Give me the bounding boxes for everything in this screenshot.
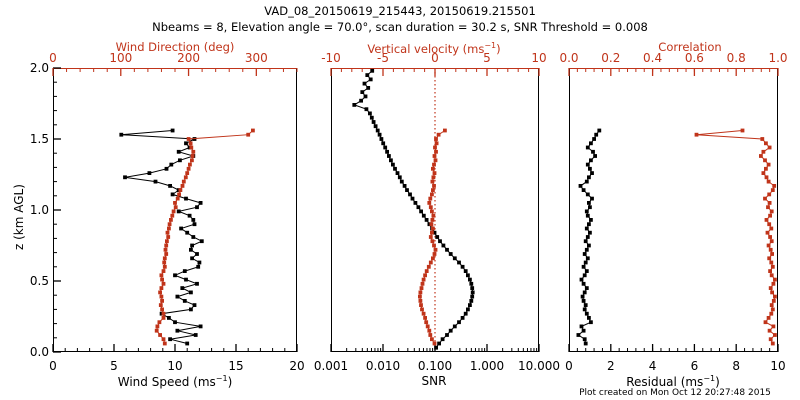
- panel-snr: [331, 68, 539, 352]
- panel-residual-bottom-axis-label: Residual (ms−1): [626, 375, 720, 388]
- panel-residual-top-axis-label: Correlation: [658, 42, 721, 54]
- x-axis-tick-label-top: 0.0: [559, 51, 578, 65]
- panel-snr-bottom-axis-label: SNR: [422, 375, 447, 387]
- x-axis-tick-label-top: 0.8: [727, 51, 746, 65]
- x-axis-tick-label-bottom: 6: [691, 359, 699, 373]
- plot-title-line2: Nbeams = 8, Elevation angle = 70.0°, sca…: [152, 22, 648, 34]
- x-axis-tick-label-bottom: 0.010: [366, 359, 400, 373]
- x-axis-tick-label-bottom: 1.000: [470, 359, 504, 373]
- x-axis-tick-label-top: 1.0: [768, 51, 787, 65]
- panel-wind: [53, 68, 297, 352]
- plot-credit: Plot created on Mon Oct 12 20:27:48 2015: [579, 389, 771, 398]
- y-axis-tick-label: 2.0: [30, 61, 49, 75]
- x-axis-tick-label-top: -10: [321, 51, 341, 65]
- panel-wind-top-axis-label: Wind Direction (deg): [116, 42, 235, 54]
- panel-wind-bottom-axis-label: Wind Speed (ms−1): [118, 375, 233, 388]
- x-axis-tick-label-bottom: 0: [565, 359, 573, 373]
- x-axis-tick-label-bottom: 15: [228, 359, 243, 373]
- panel-residual: [569, 68, 778, 352]
- y-axis-tick-label: 1.0: [30, 203, 49, 217]
- panel-snr-top-axis-label: Vertical velocity (ms−1): [367, 42, 500, 55]
- y-axis-tick-label: 1.5: [30, 132, 49, 146]
- x-axis-tick-label-bottom: 5: [110, 359, 118, 373]
- x-axis-tick-label-bottom: 10.000: [518, 359, 560, 373]
- x-axis-tick-label-bottom: 0.100: [418, 359, 452, 373]
- x-axis-tick-label-bottom: 10: [167, 359, 182, 373]
- x-axis-tick-label-bottom: 2: [607, 359, 615, 373]
- x-axis-tick-label-bottom: 8: [732, 359, 740, 373]
- x-axis-tick-label-bottom: 0: [49, 359, 57, 373]
- y-axis-label: z (km AGL): [12, 184, 26, 250]
- x-axis-tick-label-bottom: 4: [649, 359, 657, 373]
- vad-profile-plot: VAD_08_20150619_215443, 20150619.215501 …: [0, 0, 800, 400]
- x-axis-tick-label-bottom: 20: [289, 359, 304, 373]
- x-axis-tick-label-top: 10: [531, 51, 546, 65]
- y-axis-tick-label: 0.0: [30, 345, 49, 359]
- x-axis-tick-label-top: 0: [49, 51, 57, 65]
- x-axis-tick-label-top: 0.2: [601, 51, 620, 65]
- plot-title-line1: VAD_08_20150619_215443, 20150619.215501: [264, 6, 536, 18]
- x-axis-tick-label-top: 300: [245, 51, 268, 65]
- x-axis-tick-label-bottom: 0.001: [314, 359, 348, 373]
- y-axis-tick-label: 0.5: [30, 274, 49, 288]
- x-axis-tick-label-bottom: 10: [770, 359, 785, 373]
